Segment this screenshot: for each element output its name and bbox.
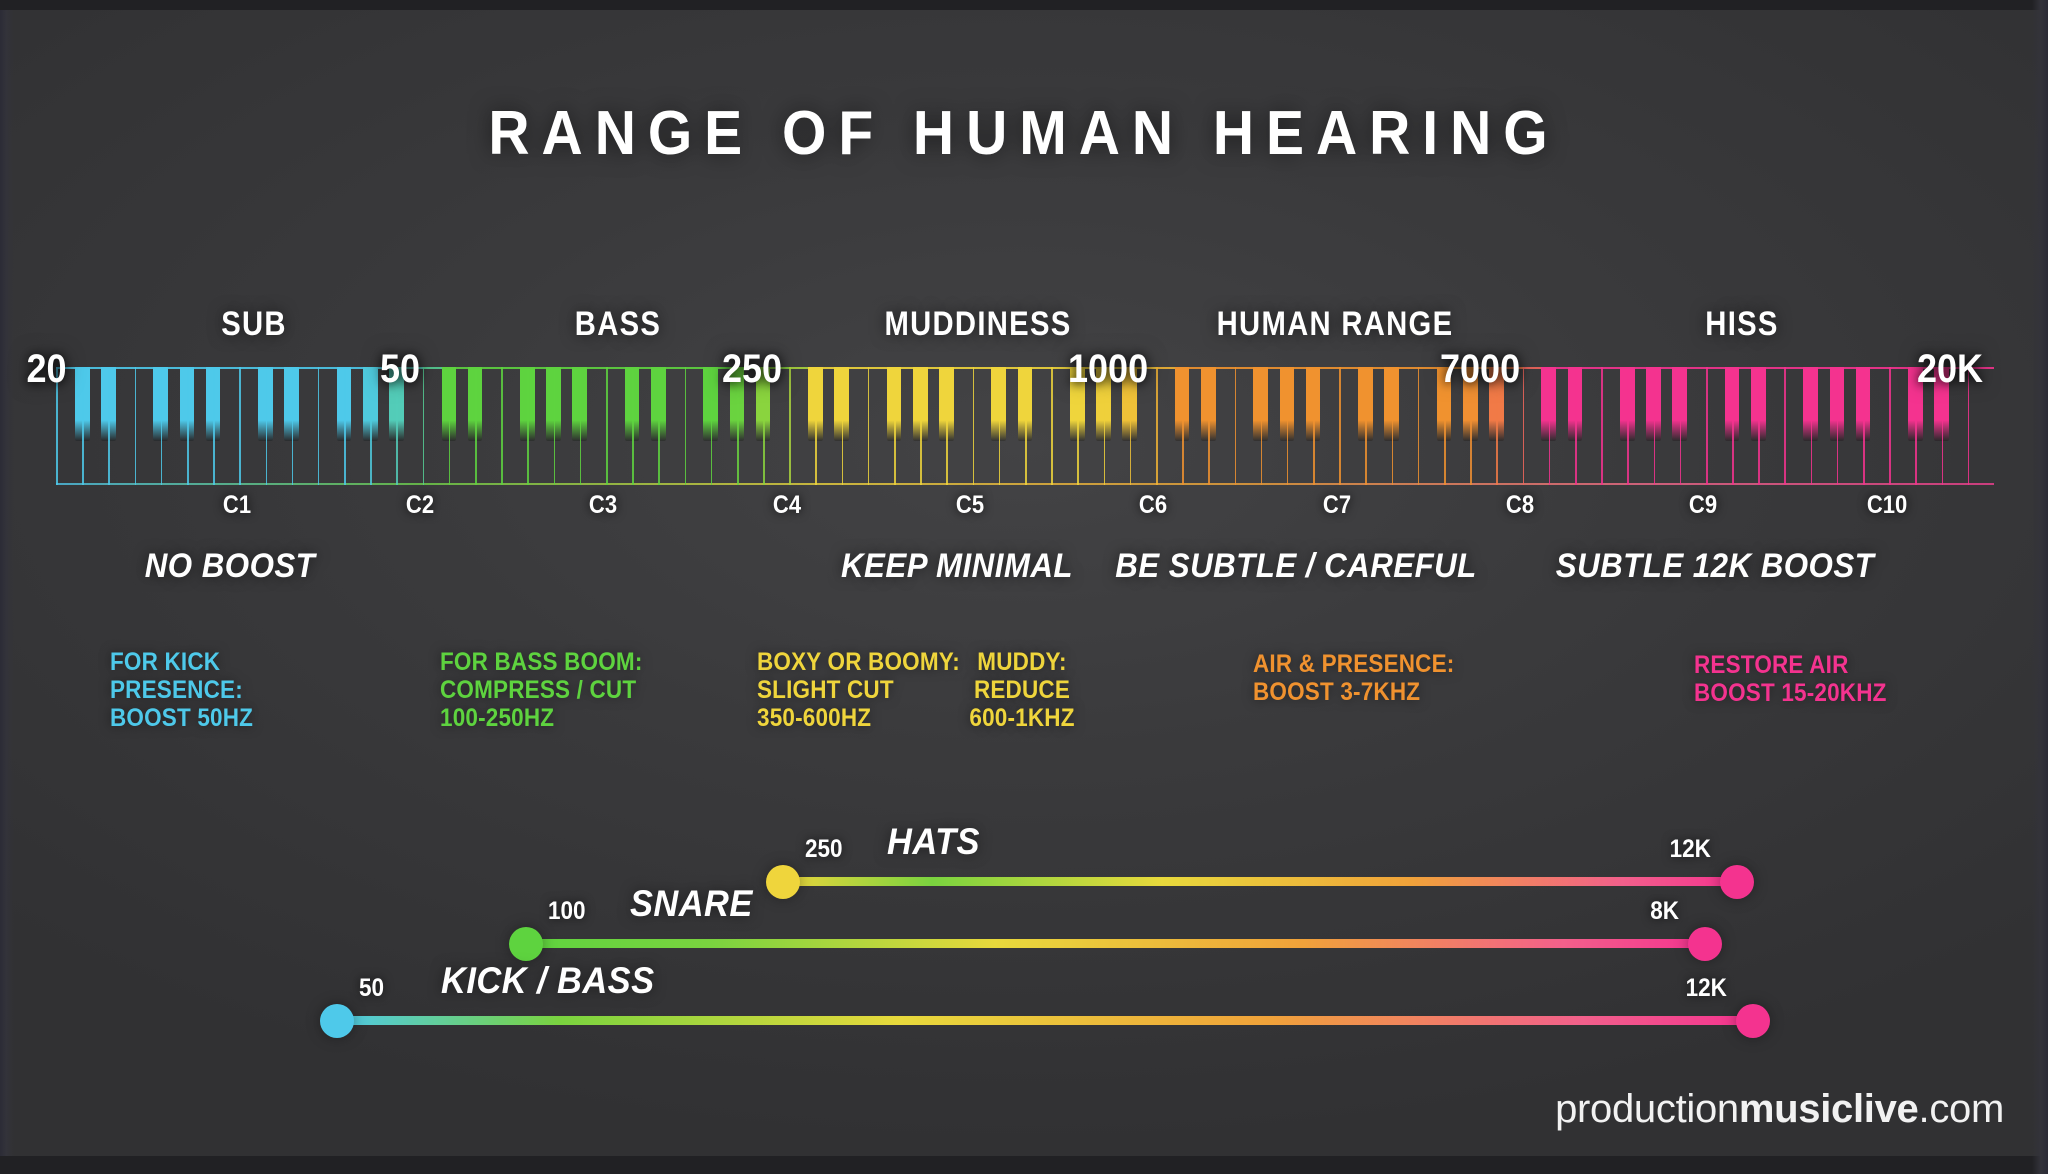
- frequency-label-20: 20: [26, 347, 66, 392]
- piano-white-key: [1025, 367, 1051, 485]
- piano-white-key: [658, 367, 684, 485]
- band-label-human-range: HUMAN RANGE: [1217, 305, 1454, 344]
- white-key-divider: [842, 367, 844, 485]
- white-key-divider: [632, 367, 634, 485]
- white-key-divider: [1627, 367, 1629, 485]
- range-bar-label-snare: SNARE: [630, 883, 753, 925]
- brand-footer[interactable]: productionmusiclive.com: [1555, 1087, 2004, 1132]
- white-key-divider: [1549, 367, 1551, 485]
- band-label-muddiness: MUDDINESS: [885, 305, 1072, 344]
- white-key-divider: [711, 367, 713, 485]
- piano-white-key: [108, 367, 134, 485]
- white-key-divider: [1811, 367, 1813, 485]
- frequency-label-7000: 7000: [1440, 347, 1520, 392]
- white-key-divider: [1758, 367, 1760, 485]
- piano-white-key: [842, 367, 868, 485]
- white-key-divider: [815, 367, 817, 485]
- advice-text-1: KEEP MINIMAL: [841, 547, 1073, 586]
- white-key-divider: [868, 367, 870, 485]
- white-key-divider: [999, 367, 1001, 485]
- white-key-divider: [370, 367, 372, 485]
- band-label-sub: SUB: [221, 305, 287, 344]
- white-key-divider: [1287, 367, 1289, 485]
- piano-white-key: [1313, 367, 1339, 485]
- range-bar-low-handle-2[interactable]: [320, 1004, 354, 1038]
- range-bar-high-value-2: 12K: [1686, 974, 1727, 1003]
- white-key-divider: [1575, 367, 1577, 485]
- page-title: RANGE OF HUMAN HEARING: [82, 98, 1966, 169]
- white-key-divider: [318, 367, 320, 485]
- range-bar-track-2: [333, 1016, 1753, 1025]
- white-key-divider: [292, 367, 294, 485]
- range-bar-high-value-0: 12K: [1670, 835, 1711, 864]
- range-bar-high-handle-2[interactable]: [1736, 1004, 1770, 1038]
- frequency-label-50: 50: [380, 347, 420, 392]
- octave-label-c9: C9: [1689, 491, 1717, 520]
- white-key-divider: [1601, 367, 1603, 485]
- octave-label-c5: C5: [956, 491, 984, 520]
- white-key-divider: [1654, 367, 1656, 485]
- poster-bottom-border: [0, 1156, 2048, 1174]
- piano-white-key: [946, 367, 972, 485]
- frequency-label-250: 250: [722, 347, 782, 392]
- white-key-divider: [161, 367, 163, 485]
- eq-tip-1: FOR BASS BOOM: COMPRESS / CUT 100-250HZ: [440, 648, 643, 732]
- white-key-top-edge: [1025, 367, 1051, 369]
- piano-white-key: [1863, 367, 1889, 485]
- white-key-divider: [658, 367, 660, 485]
- white-key-divider: [344, 367, 346, 485]
- white-key-divider: [1837, 367, 1839, 485]
- white-key-divider: [187, 367, 189, 485]
- advice-text-2: BE SUBTLE / CAREFUL: [1116, 547, 1478, 586]
- band-label-bass: BASS: [575, 305, 661, 344]
- white-key-divider: [108, 367, 110, 485]
- piano-white-key: [1758, 367, 1784, 485]
- white-key-top-edge: [475, 367, 501, 369]
- octave-label-c3: C3: [589, 491, 617, 520]
- white-key-top-edge: [658, 367, 684, 369]
- white-key-divider: [527, 367, 529, 485]
- white-key-divider: [1365, 367, 1367, 485]
- white-key-divider: [213, 367, 215, 485]
- piano-white-key: [292, 367, 318, 485]
- piano-white-key: [213, 367, 239, 485]
- white-key-divider: [946, 367, 948, 485]
- advice-text-0: NO BOOST: [145, 547, 316, 586]
- white-key-divider: [1182, 367, 1184, 485]
- eq-tip-4: AIR & PRESENCE: BOOST 3-7KHZ: [1253, 650, 1454, 706]
- octave-label-c1: C1: [223, 491, 251, 520]
- white-key-divider: [1706, 367, 1708, 485]
- piano-white-key: [475, 367, 501, 485]
- frequency-label-20k: 20K: [1917, 347, 1983, 392]
- white-key-divider: [135, 367, 137, 485]
- white-key-divider: [1156, 367, 1158, 485]
- white-key-divider: [1523, 367, 1525, 485]
- range-bar-label-hats: HATS: [887, 821, 980, 863]
- piano-white-key: [1575, 367, 1601, 485]
- white-key-divider: [973, 367, 975, 485]
- white-key-divider: [423, 367, 425, 485]
- footer-part-live: live: [1853, 1087, 1919, 1131]
- eq-tip-0: FOR KICK PRESENCE: BOOST 50HZ: [110, 648, 253, 732]
- eq-tip-3: MUDDY: REDUCE 600-1KHZ: [969, 648, 1074, 732]
- white-key-divider: [789, 367, 791, 485]
- white-key-top-edge: [213, 367, 239, 369]
- white-key-divider: [1235, 367, 1237, 485]
- range-bar-label-kick-bass: KICK / BASS: [441, 960, 655, 1002]
- footer-part-music: music: [1739, 1087, 1853, 1131]
- white-key-divider: [1680, 367, 1682, 485]
- white-key-top-edge: [1392, 367, 1418, 369]
- white-key-top-edge: [946, 367, 972, 369]
- advice-text-3: SUBTLE 12K BOOST: [1556, 547, 1874, 586]
- band-label-hiss: HISS: [1705, 305, 1778, 344]
- octave-label-c8: C8: [1506, 491, 1534, 520]
- white-key-divider: [1732, 367, 1734, 485]
- range-bar-low-value-1: 100: [548, 897, 586, 926]
- white-key-top-edge: [108, 367, 134, 369]
- white-key-divider: [266, 367, 268, 485]
- eq-tip-5: RESTORE AIR BOOST 15-20KHZ: [1694, 651, 1887, 707]
- white-key-divider: [1889, 367, 1891, 485]
- white-key-divider: [580, 367, 582, 485]
- white-key-divider: [1208, 367, 1210, 485]
- piano-white-key: [580, 367, 606, 485]
- frequency-label-1000: 1000: [1068, 347, 1148, 392]
- white-key-divider: [1863, 367, 1865, 485]
- white-key-top-edge: [1680, 367, 1706, 369]
- white-key-top-edge: [842, 367, 868, 369]
- range-bar-track-0: [779, 877, 1737, 886]
- white-key-divider: [501, 367, 503, 485]
- range-bar-high-handle-0[interactable]: [1720, 865, 1754, 899]
- white-key-top-edge: [1758, 367, 1784, 369]
- white-key-divider: [1418, 367, 1420, 485]
- white-key-divider: [1261, 367, 1263, 485]
- piano-keyboard: [56, 367, 1994, 485]
- white-key-divider: [1392, 367, 1394, 485]
- white-key-divider: [685, 367, 687, 485]
- poster-top-border: [0, 0, 2048, 10]
- white-key-divider: [920, 367, 922, 485]
- range-bar-low-value-0: 250: [805, 835, 843, 864]
- white-key-divider: [1339, 367, 1341, 485]
- white-key-divider: [894, 367, 896, 485]
- octave-label-c6: C6: [1139, 491, 1167, 520]
- range-bar-track-1: [522, 939, 1705, 948]
- white-key-divider: [82, 367, 84, 485]
- range-bar-low-handle-0[interactable]: [766, 865, 800, 899]
- piano-white-key: [1680, 367, 1706, 485]
- white-key-divider: [554, 367, 556, 485]
- white-key-divider: [1313, 367, 1315, 485]
- octave-label-c2: C2: [406, 491, 434, 520]
- range-bar-high-handle-1[interactable]: [1688, 927, 1722, 961]
- octave-label-c10: C10: [1866, 491, 1906, 520]
- white-key-top-edge: [1575, 367, 1601, 369]
- eq-tip-2: BOXY OR BOOMY: SLIGHT CUT 350-600HZ: [757, 648, 960, 732]
- white-key-top-edge: [1863, 367, 1889, 369]
- footer-part-production: production: [1555, 1087, 1739, 1131]
- octave-label-c4: C4: [773, 491, 801, 520]
- white-key-divider: [1025, 367, 1027, 485]
- footer-part-domain: .com: [1919, 1087, 2004, 1131]
- range-bar-low-value-2: 50: [359, 974, 384, 1003]
- white-key-divider: [1784, 367, 1786, 485]
- range-bar-low-handle-1[interactable]: [509, 927, 543, 961]
- white-key-divider: [239, 367, 241, 485]
- piano-white-key: [1392, 367, 1418, 485]
- white-key-divider: [1051, 367, 1053, 485]
- white-key-top-edge: [1313, 367, 1339, 369]
- white-key-top-edge: [1208, 367, 1234, 369]
- white-key-top-edge: [580, 367, 606, 369]
- white-key-divider: [449, 367, 451, 485]
- octave-label-c7: C7: [1323, 491, 1351, 520]
- white-key-divider: [475, 367, 477, 485]
- range-bar-high-value-1: 8K: [1650, 897, 1679, 926]
- white-key-divider: [606, 367, 608, 485]
- white-key-top-edge: [292, 367, 318, 369]
- piano-white-key: [1208, 367, 1234, 485]
- infographic-poster: RANGE OF HUMAN HEARING SUBBASSMUDDINESSH…: [0, 0, 2048, 1174]
